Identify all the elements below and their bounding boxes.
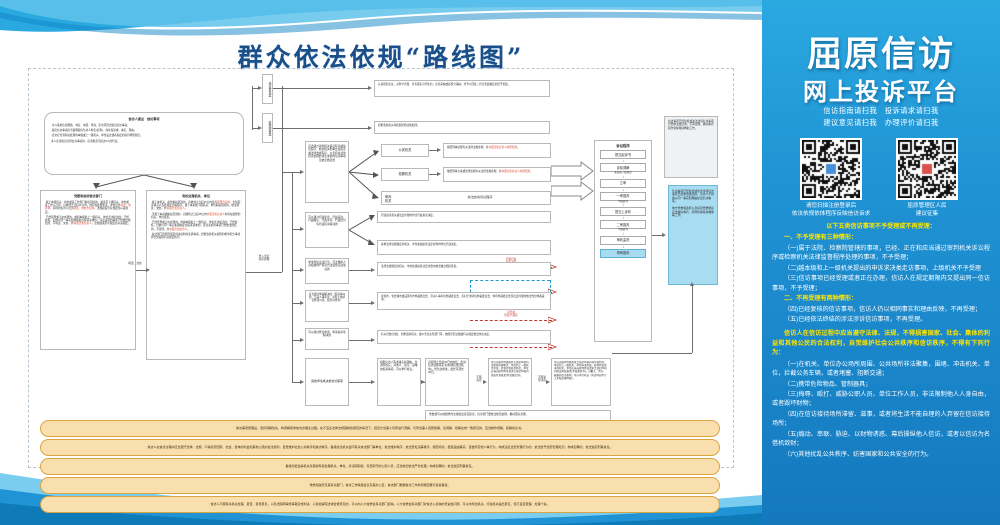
strip-3: 党委和政府及其有关部门，信访工作联席会议及其办公室，信访部门根据信访工作条例规定… — [40, 477, 720, 494]
branch-row-2-source: 可以通过党员申诉、申请复审等解决的 — [305, 328, 349, 350]
tail-chain-0: 自受理之日起60日内办结，出具信访处理意见书(办理结果回执单)。经信访批准，最长… — [425, 358, 469, 406]
branch-row-3-target: 听取信访人陈述事实和理由，并调查核实；对重大、复杂、疑难的投诉事项，可以举行听证… — [377, 358, 421, 406]
flow-box-competent-authority-title: 有权处理机关、单位 — [151, 195, 241, 199]
flow-start-lines: ·可以采用信息网络、书信、电话、传真、走访等形式提出信访事项。·提出信访事项应当… — [51, 124, 237, 143]
branch-judicial-source: 应当通过审判机关诉讼程序或复议程序、检察机关刑事立案程序或法律监督程序、公安机关… — [305, 141, 349, 203]
tail-chain-2: 可以自收到书面复查之日起30日内向复查机关、单位的上一级机关、单位申请复核。收到… — [551, 358, 611, 406]
section3-items: （一)在机关、单位办公场所周围、公共场所非法聚集，围堵、冲击机关、单位，拦截公务… — [772, 360, 990, 459]
left-diagram-area: 群众依法依规“路线图” 信访人提出 信访事项 ·可以采用信息网络、书信、电话、传… — [0, 0, 762, 525]
branch-row-3-source: 其他申请求决类信访事项 — [305, 358, 349, 406]
flow-box-petition-dept-body: ·属于本级机关、单位或其工作部门职权范围的，或涉及下级机关、单位或其工作人员的，… — [45, 201, 131, 226]
branch-judicial-in-arrow — [300, 170, 304, 174]
label-transfer: 转送、交办 — [120, 262, 150, 265]
strip-2: 各级纪检监察机关对其他有权处理机关、单位，对渎职职权、玩忽职守的公职人员，应当依… — [40, 458, 720, 475]
row1-line — [349, 303, 373, 304]
branch-judicial-fan — [349, 141, 381, 207]
section1-sub2: 二、不再受理有两种情形： — [772, 294, 990, 303]
lit-out-arrow — [662, 233, 666, 237]
flow-start-box: 信访人提出 信访事项 ·可以采用信息网络、书信、电话、传真、走访等形式提出信访事… — [44, 112, 244, 175]
strip-0: 信访事项受理后，坚持调解优先，构调解贯穿信访办理全过程。在不违反法律法规强制性规… — [40, 420, 720, 437]
target-reports: 纪检监察机关等按照纪检法规处理。 — [374, 121, 550, 134]
strip-1: 信访人在信访过程中应当遵守法律、法规，不得损害国家、社会、集体的利益和其他公民的… — [40, 439, 720, 456]
branch-row-1-source: 应当通过仲裁解决的（民商事纠纷、劳动人事争议、农村土地承包经营纠纷、债务纠纷等） — [305, 290, 349, 322]
proc-out-arrow — [437, 172, 441, 176]
target-suggestions: 认真研究论证，对科学合理、具有现实可行性的，应当采纳或者部分采纳，并予以回复；符… — [374, 80, 550, 97]
vtab-out-2 — [273, 128, 370, 129]
result-police: 按照刑事处理有关法律法规办理，并书面告知信访人办理结果。 — [443, 143, 551, 158]
branch-admin-fan — [349, 212, 377, 252]
vtab-reports: 检举控告类 — [262, 113, 273, 143]
tail-chain-1: 可以自收到书面答复之日起30日内请求原办理机关、单位的上一级机关复查。检查复查机… — [488, 358, 532, 406]
qr-caption-1: 请您扫描注册登录后 依法依规依体程序反映信访诉求 — [783, 203, 879, 218]
rows-in-3-arrow — [300, 380, 304, 384]
terminate-feed — [692, 285, 693, 353]
litigation-steps: 提交起诉书↓诉前调解未达成一致意见↓立审↓一审庭判不服庭判↓提交上诉状↓二审庭判… — [597, 150, 649, 258]
panel-body-text: 以下五类信访事项不予受理或不再受理： 一、不予受理有三种情形： （一)属于法院、… — [772, 222, 990, 460]
vtab-spine — [252, 86, 253, 130]
tail-arrow-a — [421, 380, 425, 384]
row0-line — [349, 270, 373, 271]
connector-transfer-arrow — [146, 268, 150, 272]
branch-target-court-result: 依法启动诉讼程序 — [440, 196, 520, 200]
branch-row-2-target: 有关党委(党组)、纪检监察机关、或公务员主管部门等，依照党纪法规或有关规定依法作… — [377, 330, 551, 344]
terminate-box: 信访事项已经复核或涉法涉诉信访事项已经依法终结的，信访人不得再以同一事实和理由提… — [668, 185, 718, 285]
row2-arrow — [371, 338, 375, 342]
qr-code-petition-guide[interactable] — [800, 138, 862, 200]
flow-box-petition-dept-title: 党委和政府信访部门 — [45, 195, 131, 199]
connector-enter — [246, 272, 282, 273]
poster-root: 群众依法依规“路线图” 信访人提出 信访事项 ·可以采用信息网络、书信、电话、传… — [0, 0, 1000, 525]
qr-code-suggestion-collection[interactable] — [896, 138, 958, 200]
tail-arrow-b — [483, 380, 487, 384]
flow-box-competent-authority-body: ·属于本机关、单位职权范围的，自收到之日起15日内出具受理告知单，告知程序情况以… — [151, 201, 241, 239]
start-split-arrows — [44, 175, 244, 190]
label-appeal-2: 对行政 答复不满意 — [488, 311, 534, 317]
branch-row-0-source: 申请查处违法行为、司法保护人身权或财产权等合法权益违法职责的 — [305, 258, 349, 284]
vtab-out-arrow-1 — [368, 86, 372, 90]
flow-start-title: 信访人提出 信访事项 — [51, 118, 237, 122]
admin-in-arrow — [300, 227, 304, 231]
branch-row-1-target: 直辖市、省会城市或设区的市仲裁委员会、劳动人事争议仲裁委员会、农村土地承包仲裁委… — [377, 292, 551, 310]
flow-box-petition-dept: 党委和政府信访部门 ·属于本级机关、单位或其工作部门职权范围的，或涉及下级机关、… — [40, 190, 136, 350]
section1-heading: 以下五类信访事项不予受理或不再受理： — [772, 222, 990, 231]
strip-4: 信访人不服有关机关处理、复查、复核意见，人民法院两审终审裁定或判决、人民检察院法… — [40, 496, 720, 513]
tail-arrow-c — [546, 380, 550, 384]
litigation-column: 诉讼程序 提交起诉书↓诉前调解未达成一致意见↓立审↓一审庭判不服庭判↓提交上诉状… — [594, 140, 652, 342]
result-admin-review: 行政复议机关或法定时限内作出行政复议决定。 — [377, 211, 551, 223]
vtab-arrow-1 — [258, 86, 262, 90]
result-procuratorate: 依照刑事立案或法律监督有关法律法规办理，并书面告知信访人办理结果。 — [443, 167, 551, 182]
row3-line — [349, 382, 373, 383]
rows-in-1-arrow — [300, 301, 304, 305]
panel-subtitle: 网上投诉平台 — [762, 72, 1000, 107]
vtab-arrow-2 — [258, 126, 262, 130]
vtab-out-1 — [273, 88, 370, 89]
scan-line-2: 建议意见请扫我 办理评价请扫我 — [762, 118, 1000, 128]
connector-spine-v — [282, 86, 283, 272]
section1-items: （一)属于法院、检察院管辖的事项，已经、正在和应当通过审判机关诉讼程序或检察机关… — [772, 244, 990, 293]
dashed-appeal-4 — [470, 347, 552, 348]
flow-box-competent-authority: 有权处理机关、单位 ·属于本机关、单位职权范围的，自收到之日起15日内出具受理告… — [146, 190, 246, 360]
row1-arrow — [371, 301, 375, 305]
branch-target-police: 公安机关 — [381, 144, 429, 157]
rows-in-0-arrow — [300, 268, 304, 272]
section1-sub1: 一、不予受理有三种情形： — [772, 233, 990, 242]
police-out-arrow — [437, 148, 441, 152]
vtab-suggestions: 建议意见类 — [262, 74, 273, 104]
rows-in-2-arrow — [300, 338, 304, 342]
right-info-panel: 屈原信访 网上投诉平台 信访指南请扫我 投诉请求请扫我 建议意见请扫我 办理评价… — [762, 0, 1000, 525]
dashed-appeal-3 — [470, 320, 552, 321]
litigation-title: 诉讼程序 — [597, 144, 649, 148]
branch-target-procuratorate: 检察机关 — [381, 168, 429, 181]
label-enter-legal-process: 导入法定程序办理 — [248, 255, 280, 261]
side-note-box: 信访事项已经复核或涉法涉诉信访事项已经依法终结的，不再受理，做好教育疏导化解帮扶… — [664, 116, 718, 178]
row2-line — [349, 340, 373, 341]
branch-row-0-target: 法律法规规定的机关、单位和组织各法定时限内依法做出相应答复。 — [377, 262, 551, 276]
section2-items: （四)已经复核的信访事项，信访人仍以相同事实和理由反映，不再受理；（五)已经依法… — [772, 305, 990, 325]
panel-title: 屈原信访 — [762, 26, 1000, 77]
big-merge-arrows — [551, 160, 595, 204]
section2-heading: 信访人在信访过程中应当遵守法律、法规，不得损害国家、社会、集体的利益和其他公民的… — [772, 329, 990, 357]
branch-admin-source: 可以通过行政复议、行政裁决、行政确认、行政许可、行政给付等行政程序解决的 — [305, 212, 349, 248]
row0-arrow — [371, 268, 375, 272]
vtab-out-arrow-2 — [368, 126, 372, 130]
qr-caption-2: 屈原管理区人民 建议征集 — [879, 203, 975, 218]
row3-arrow — [371, 380, 375, 384]
rows-spine — [292, 229, 293, 382]
terminate-feed-arrow — [690, 282, 694, 286]
dashed-blue-h — [470, 280, 550, 281]
terminate-feed-h — [612, 353, 692, 354]
scan-line-1: 信访指南请扫我 投诉请求请扫我 — [762, 106, 1000, 116]
admin-spine — [292, 172, 293, 230]
result-admin-other: 其他法律法规规定的机关、单位和组织各法定时限内作出行政决定。 — [377, 240, 551, 255]
